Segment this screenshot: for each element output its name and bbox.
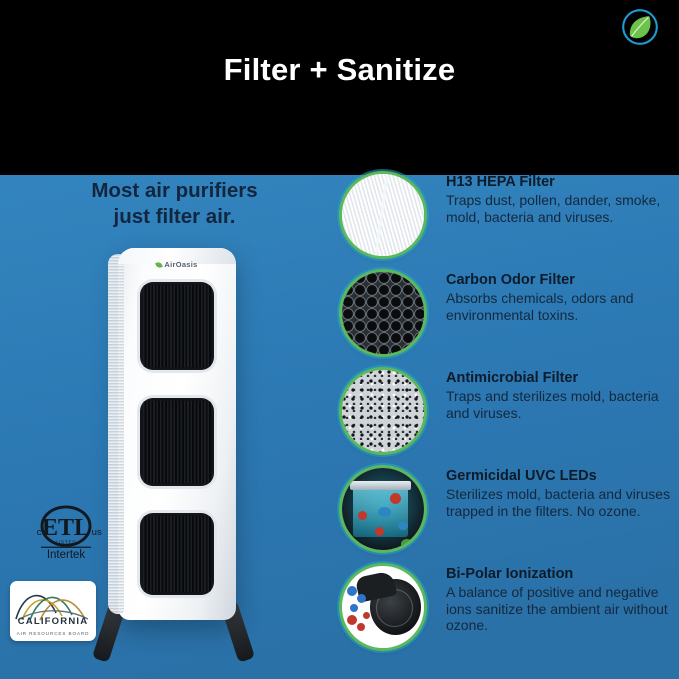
svg-text:ETL: ETL [42,515,90,541]
carb-title: CALIFORNIA [10,616,96,627]
certification-badges: ETL LISTED c us Intertek CALIFORNIA AIR … [10,505,110,641]
hepa-filter-icon [342,174,424,256]
product-vent-bottom [140,513,214,595]
bi-polar-ionization-icon [342,566,424,648]
etl-mark-icon: ETL LISTED c us [18,505,114,553]
feature-description: Traps and sterilizes mold, bacteria and … [446,388,679,421]
product-vent-middle [140,398,214,486]
svg-text:c: c [37,527,42,538]
air-oasis-leaf-logo [619,6,661,48]
carb-subtitle: AIR RESOURCES BOARD [10,631,96,636]
feature-item-carbon: Carbon Odor Filter Absorbs chemicals, od… [336,266,679,362]
left-headline: Most air purifiers just filter air. [52,178,297,230]
svg-text:LISTED: LISTED [56,539,77,544]
feature-item-uvc: Germicidal UVC LEDs Sterilizes mold, bac… [336,462,679,558]
antimicrobial-filter-icon [342,370,424,452]
infographic-canvas: Filter + Sanitize Most air purifiers jus… [0,0,679,679]
headline-line-1: Most air purifiers [52,178,297,204]
headline-line-2: just filter air. [52,204,297,230]
feature-title: Bi-Polar Ionization [446,566,679,583]
etl-label: Intertek [18,549,114,561]
page-title: Filter + Sanitize [0,52,679,88]
feature-title: Carbon Odor Filter [446,272,679,289]
svg-text:us: us [92,527,102,538]
feature-description: Absorbs chemicals, odors and environment… [446,290,679,323]
california-air-resources-board-badge: CALIFORNIA AIR RESOURCES BOARD [10,581,96,641]
carbon-odor-filter-icon [342,272,424,354]
feature-description: Traps dust, pollen, dander, smoke, mold,… [446,192,679,225]
feature-item-ionization: Bi-Polar Ionization A balance of positiv… [336,560,679,656]
feature-description: Sterilizes mold, bacteria and viruses tr… [446,486,679,519]
product-image: AirOasis [104,248,264,648]
feature-list: H13 HEPA Filter Traps dust, pollen, dand… [336,168,679,658]
germicidal-uvc-led-icon [342,468,424,550]
feature-title: H13 HEPA Filter [446,174,679,191]
feature-description: A balance of positive and negative ions … [446,584,679,634]
feature-title: Antimicrobial Filter [446,370,679,387]
header-banner: Filter + Sanitize [0,0,679,175]
feature-item-antimicrobial: Antimicrobial Filter Traps and sterilize… [336,364,679,460]
feature-item-hepa: H13 HEPA Filter Traps dust, pollen, dand… [336,168,679,264]
feature-title: Germicidal UVC LEDs [446,468,679,485]
leaf-icon [156,261,164,269]
etl-intertek-badge: ETL LISTED c us Intertek [18,505,114,567]
product-vent-top [140,282,214,370]
product-brand-label: AirOasis [118,260,236,269]
